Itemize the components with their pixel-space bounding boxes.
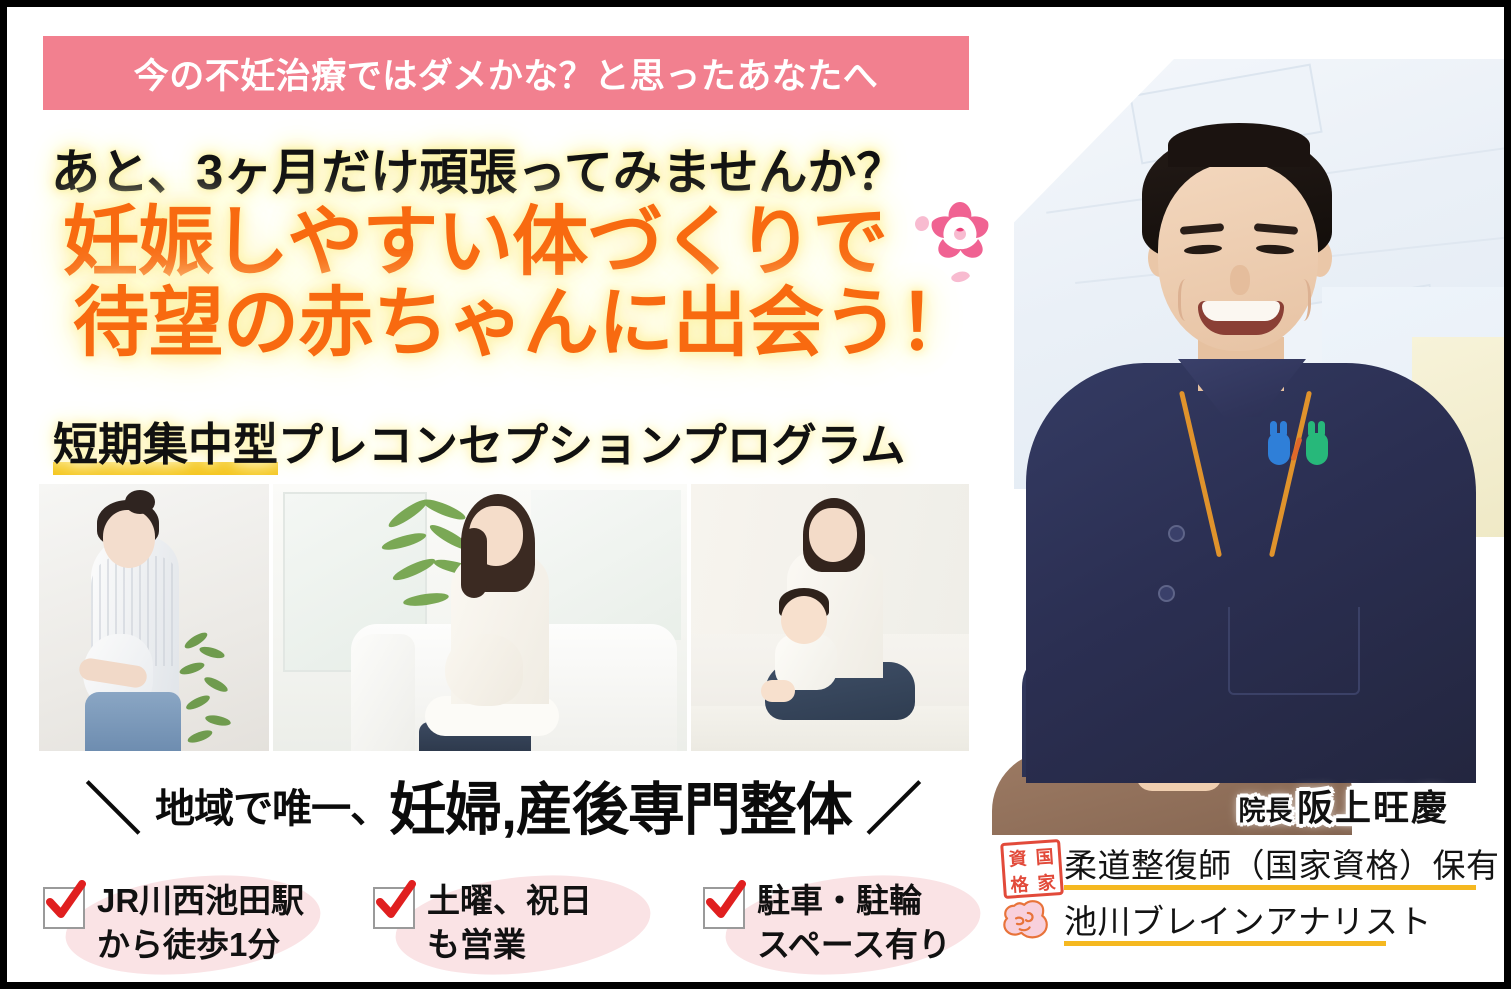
photo-standing-pregnant-woman	[39, 484, 269, 751]
rabbit-logo-blue-icon	[1268, 433, 1290, 465]
feature-line2: から徒歩1分	[97, 923, 304, 967]
credential-text: 池川ブレインアナリスト	[1064, 895, 1432, 943]
credential-row-brain-analyst: 池川ブレインアナリスト	[998, 897, 1508, 949]
feature-text: 駐車・駐輪 スペース有り	[757, 879, 951, 966]
seal-char-3: 格	[1005, 870, 1034, 898]
credential-underline	[1064, 941, 1386, 946]
checkbox-checked-icon	[703, 887, 745, 929]
seal-char-1: 資	[1003, 844, 1032, 872]
tagline-big-text: 妊婦,産後専門整体	[389, 764, 852, 846]
tagline-right-slash: ／	[866, 765, 922, 846]
feature-line2: も営業	[427, 923, 592, 967]
photo-strip	[39, 484, 969, 751]
header-band-text: 今の不妊治療ではダメかな？と思ったあなたへ	[134, 48, 878, 99]
tagline-small-text: 地域で唯一、	[155, 776, 389, 834]
promotional-banner: 今の不妊治療ではダメかな？と思ったあなたへ あと、3ヶ月だけ頑張ってみませんか？…	[0, 0, 1511, 989]
program-line: 短期集中型プレコンセプションプログラム	[53, 413, 953, 469]
seal-char-4: 家	[1032, 868, 1061, 896]
main-headline-line1: 妊娠しやすい体づくりで	[63, 200, 887, 285]
seal-stamp: 資 国 格 家	[1000, 839, 1064, 899]
program-rest: プレコンセプションプログラム	[278, 409, 905, 474]
feature-text: JR川西池田駅 から徒歩1分	[97, 879, 304, 966]
header-band: 今の不妊治療ではダメかな？と思ったあなたへ	[43, 36, 969, 110]
seal-char-2: 国	[1030, 842, 1059, 870]
doctor-column: 院長 阪上旺慶 資 国 格 家 柔道整復師（国家資格）保有	[992, 7, 1511, 982]
national-qualification-seal-icon: 資 国 格 家	[998, 841, 1060, 893]
feature-item-parking: 駐車・駐輪 スペース有り	[703, 873, 951, 979]
doctor-name-block: 院長 阪上旺慶	[992, 779, 1511, 831]
photo-mother-with-baby	[691, 484, 969, 751]
rabbit-logo-green-icon	[1306, 433, 1328, 465]
credentials-panel: 資 国 格 家 柔道整復師（国家資格）保有	[992, 835, 1511, 982]
feature-line1: JR川西池田駅	[97, 879, 304, 923]
feature-line1: 駐車・駐輪	[757, 879, 951, 923]
left-content-column: 今の不妊治療ではダメかな？と思ったあなたへ あと、3ヶ月だけ頑張ってみませんか？…	[7, 7, 992, 982]
tagline: ＼ 地域で唯一、 妊婦,産後専門整体 ／	[51, 764, 956, 846]
sub-headline: あと、3ヶ月だけ頑張ってみませんか？	[51, 132, 931, 204]
checkbox-checked-icon	[373, 887, 415, 929]
photo-seated-pregnant-woman	[273, 484, 687, 751]
credential-underline	[1064, 885, 1476, 890]
feature-line1: 土曜、祝日	[427, 879, 592, 923]
feature-text: 土曜、祝日 も営業	[427, 879, 592, 966]
plant-decor	[177, 632, 255, 751]
credential-text: 柔道整復師（国家資格）保有	[1064, 839, 1500, 887]
main-headline-line2: 待望の赤ちゃんに出会う！	[73, 284, 963, 365]
doctor-name: 阪上旺慶	[1297, 787, 1449, 828]
brain-icon	[998, 897, 1060, 949]
feature-list: JR川西池田駅 から徒歩1分 土曜、祝日 も営業	[43, 873, 973, 979]
feature-line2: スペース有り	[757, 923, 951, 967]
main-headline: 妊娠しやすい体づくりで 待望の赤ちゃんに出会う！	[63, 203, 963, 364]
checkbox-checked-icon	[43, 887, 85, 929]
credential-row-qualification: 資 国 格 家 柔道整復師（国家資格）保有	[998, 841, 1508, 893]
feature-item-hours: 土曜、祝日 も営業	[373, 873, 592, 979]
program-highlight: 短期集中型	[53, 408, 278, 475]
doctor-title: 院長	[1239, 796, 1293, 826]
feature-item-station: JR川西池田駅 から徒歩1分	[43, 873, 304, 979]
tagline-left-slash: ＼	[85, 765, 141, 846]
